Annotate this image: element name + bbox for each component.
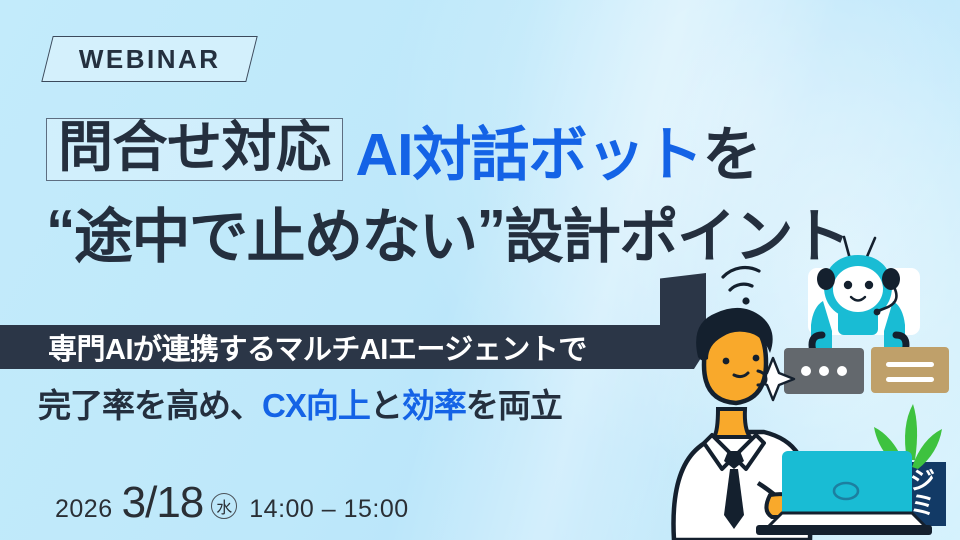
subtitle-highlight-2: 効率: [402, 387, 466, 424]
subtitle-part-2: と: [370, 387, 402, 424]
ribbon-text: 専門AIが連携するマルチAIエージェントで: [48, 326, 587, 368]
event-year: 2026: [55, 495, 113, 524]
title-line1-tail: を: [703, 107, 761, 192]
title-line2-tail: 設計ポイント: [505, 189, 850, 274]
title-highlight-blue: AI対話ボット: [356, 107, 703, 192]
title-line-2: “ 途中で止めない ” 設計ポイント: [46, 192, 906, 270]
title-line2-main: 途中で止めない: [74, 189, 477, 274]
title-keyword-box: 問合せ対応: [46, 118, 343, 181]
title-line-1: 問合せ対応 AI対話ボット を: [46, 110, 906, 188]
webinar-banner: WEBINAR 問合せ対応 AI対話ボット を “ 途中で止めない ” 設計ポイ…: [0, 0, 960, 540]
event-datetime: 2026 3/18 水 14:00 – 15:00: [55, 478, 409, 528]
webinar-badge-label: WEBINAR: [79, 44, 221, 75]
page-title: 問合せ対応 AI対話ボット を “ 途中で止めない ” 設計ポイント: [46, 110, 906, 270]
brand-logo: マジ セミ: [874, 462, 946, 526]
title-quote-open: “: [46, 197, 74, 265]
webinar-badge: WEBINAR: [41, 36, 257, 82]
event-time: 14:00 – 15:00: [249, 495, 408, 524]
title-quote-close: ”: [477, 197, 505, 265]
title-keyword-text: 問合せ対応: [58, 120, 331, 175]
event-day-of-week: 水: [211, 493, 237, 519]
subtitle-highlight-1: CX向上: [262, 387, 370, 424]
chat-bubble-dots-icon: [784, 348, 864, 394]
subtitle-part-3: を両立: [466, 387, 562, 424]
brand-logo-line-2: セミ: [884, 494, 935, 520]
event-month-day: 3/18: [122, 478, 204, 528]
ribbon-banner: 専門AIが連携するマルチAIエージェントで: [0, 325, 722, 369]
subtitle-part-1: 完了率を高め、: [38, 387, 262, 424]
chat-bubble-lines-icon: [871, 347, 949, 393]
subtitle-line: 完了率を高め、CX向上と効率を両立: [38, 379, 562, 427]
sparkle-icon: [752, 358, 794, 400]
brand-logo-line-1: マジ: [884, 469, 935, 495]
robot-screen: [808, 268, 920, 335]
